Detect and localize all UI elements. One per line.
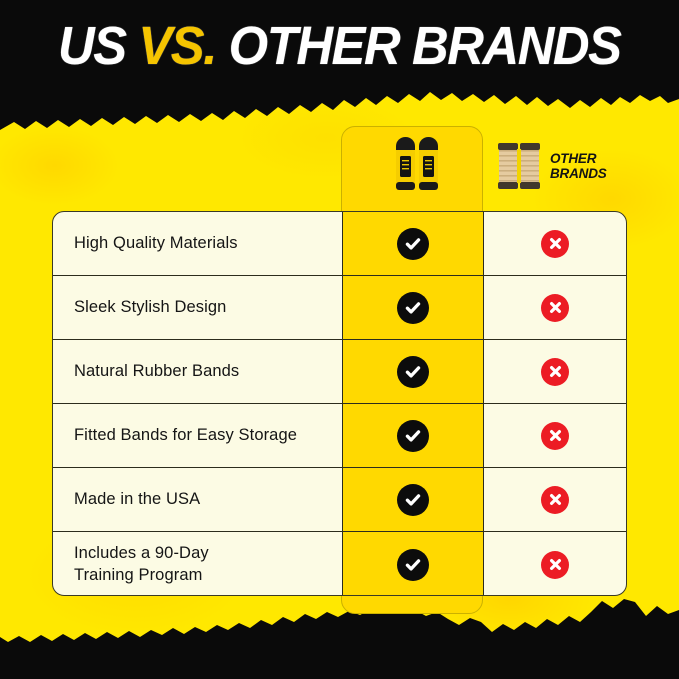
check-circle-icon (397, 420, 429, 452)
table-row: Fitted Bands for Easy Storage (53, 404, 626, 468)
other-brands-label: OTHER BRANDS (550, 151, 607, 181)
ours-cell (342, 212, 484, 275)
cross-circle-icon (541, 358, 569, 386)
check-circle-icon (397, 549, 429, 581)
feature-cell: Sleek Stylish Design (53, 276, 342, 339)
other-brands-label-line1: OTHER (550, 151, 596, 166)
cross-circle-icon (541, 551, 569, 579)
ours-cell (342, 276, 484, 339)
feature-cell: Includes a 90-Day Training Program (53, 532, 342, 596)
comparison-infographic: US VS. OTHER BRANDS (0, 0, 679, 679)
feature-cell: Fitted Bands for Easy Storage (53, 404, 342, 467)
other-cell (484, 468, 626, 531)
cross-circle-icon (541, 486, 569, 514)
check-circle-icon (397, 292, 429, 324)
ours-cell (342, 468, 484, 531)
title-us: US (58, 16, 138, 76)
torn-edge-bottom (0, 592, 679, 644)
title-other-brands: OTHER BRANDS (216, 16, 621, 76)
page-title-bar: US VS. OTHER BRANDS (0, 0, 679, 92)
cross-circle-icon (541, 230, 569, 258)
ours-cell (342, 532, 484, 596)
other-cell (484, 404, 626, 467)
table-row: Sleek Stylish Design (53, 276, 626, 340)
table-row: Made in the USA (53, 468, 626, 532)
table-row: Natural Rubber Bands (53, 340, 626, 404)
table-row: Includes a 90-Day Training Program (53, 532, 626, 596)
comparison-table: High Quality Materials Sleek Stylish Des… (52, 211, 627, 596)
feature-cell: High Quality Materials (53, 212, 342, 275)
table-row: High Quality Materials (53, 212, 626, 276)
ours-cell (342, 340, 484, 403)
torn-edge-top (0, 87, 679, 135)
check-circle-icon (397, 356, 429, 388)
yellow-resistance-bands-product-icon (393, 134, 441, 196)
cross-circle-icon (541, 422, 569, 450)
cross-circle-icon (541, 294, 569, 322)
tan-resistance-bands-product-icon (497, 139, 541, 193)
feature-text-line2: Training Program (74, 565, 209, 586)
other-cell (484, 340, 626, 403)
other-brands-label-line2: BRANDS (550, 166, 607, 181)
check-circle-icon (397, 484, 429, 516)
other-cell (484, 532, 626, 596)
feature-cell: Made in the USA (53, 468, 342, 531)
other-cell (484, 212, 626, 275)
title-vs: VS. (139, 16, 217, 76)
feature-cell: Natural Rubber Bands (53, 340, 342, 403)
check-circle-icon (397, 228, 429, 260)
other-cell (484, 276, 626, 339)
page-title: US VS. OTHER BRANDS (58, 19, 621, 73)
other-brands-header: OTHER BRANDS (497, 139, 607, 193)
feature-text-line1: Includes a 90-Day (74, 544, 209, 562)
ours-cell (342, 404, 484, 467)
